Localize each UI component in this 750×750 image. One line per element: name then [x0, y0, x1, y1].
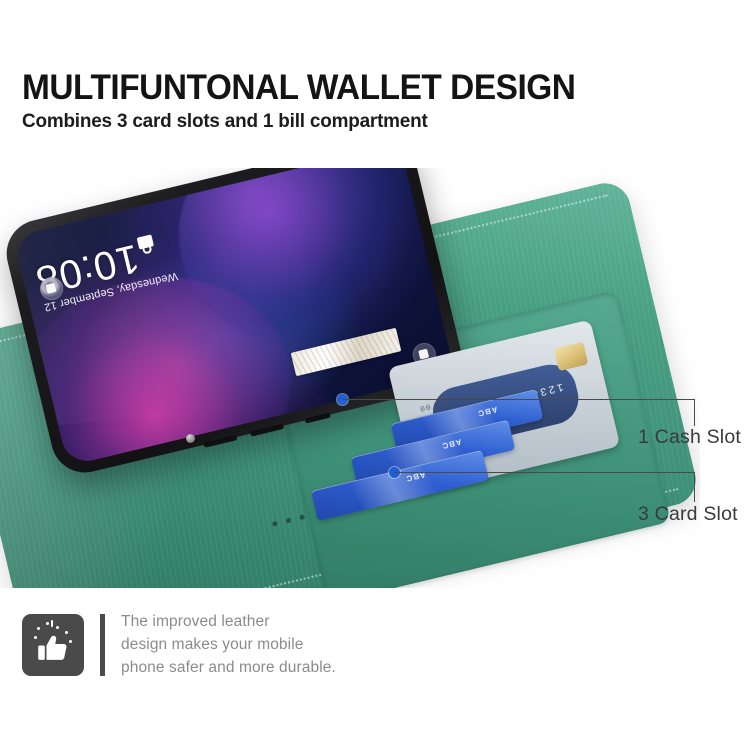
- callout-line-cash-horizontal: [343, 399, 695, 400]
- feature-text-line-2: design makes your mobile: [121, 633, 336, 656]
- callout-line-card-vertical: [694, 472, 695, 502]
- snap-stud: [186, 434, 195, 443]
- callout-label-card-slot: 3 Card Slot: [638, 503, 738, 526]
- lock-icon: [137, 234, 154, 249]
- product-photo: Wednesday, September 12 10:08 1234 5678 …: [0, 168, 700, 588]
- page-subtitle: Combines 3 card slots and 1 bill compart…: [22, 110, 428, 133]
- page-title: MULTIFUNTONAL WALLET DESIGN: [22, 68, 575, 108]
- callout-line-cash-vertical: [694, 399, 695, 426]
- card-label: ABC: [440, 437, 462, 451]
- feature-divider: [100, 614, 105, 676]
- feature-text-line-1: The improved leather: [121, 610, 336, 633]
- thumbs-up-icon: [22, 614, 84, 676]
- feature-text-line-3: phone safer and more durable.: [121, 656, 336, 679]
- infographic-canvas: MULTIFUNTONAL WALLET DESIGN Combines 3 c…: [0, 0, 750, 750]
- card-label: ABC: [476, 405, 498, 419]
- callout-label-cash-slot: 1 Cash Slot: [638, 426, 741, 449]
- chip-icon: [554, 342, 589, 371]
- feature-text: The improved leather design makes your m…: [121, 610, 336, 679]
- feature-block: The improved leather design makes your m…: [22, 610, 336, 679]
- callout-line-card-horizontal: [395, 472, 695, 473]
